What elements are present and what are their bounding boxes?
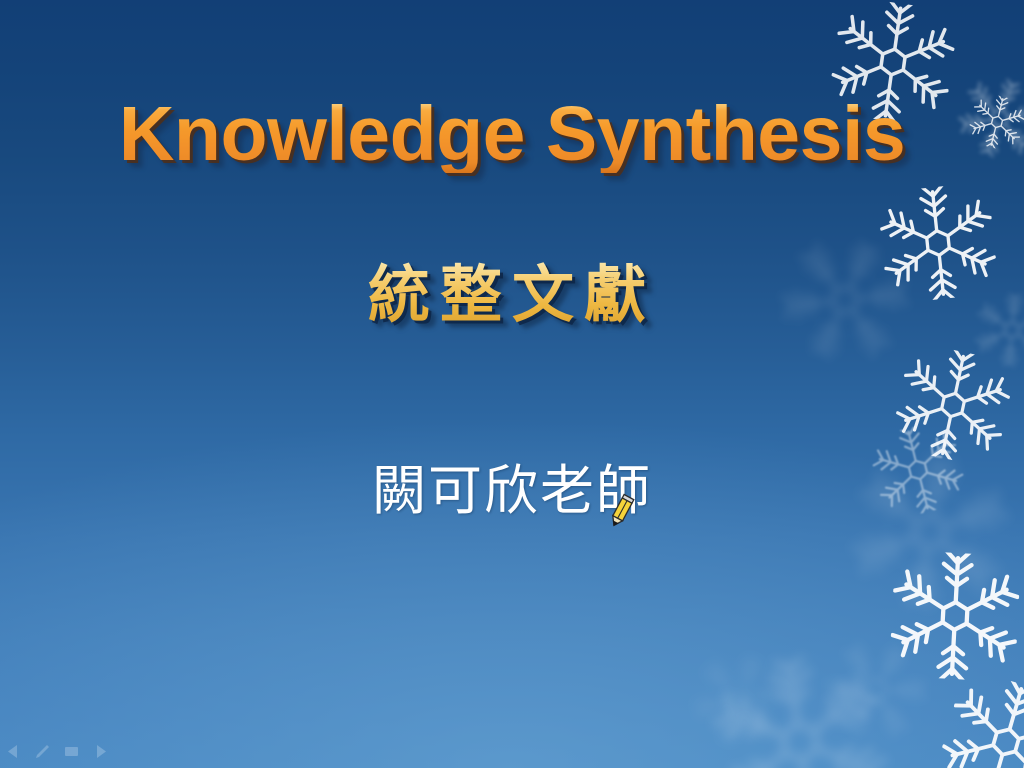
slide-subtitle: 統整文獻 — [368, 262, 656, 330]
presentation-toolbar[interactable] — [4, 738, 110, 764]
previous-slide-button[interactable] — [4, 742, 23, 761]
pen-tool-button[interactable] — [33, 742, 52, 761]
snowflake-icon — [810, 624, 941, 755]
presenter-name: 闕可欣老師 — [372, 462, 652, 521]
presentation-slide: Knowledge Synthesis 統整文獻 闕可欣老師 — [0, 0, 1024, 768]
snowflake-icon — [889, 550, 1021, 682]
snowflake-icon — [932, 668, 1024, 768]
snowflake-icon — [889, 341, 1017, 469]
next-slide-button[interactable] — [91, 742, 110, 761]
slide-options-button[interactable] — [62, 742, 81, 761]
title-container: Knowledge Synthesis — [0, 96, 1024, 173]
page-title: Knowledge Synthesis — [119, 96, 905, 173]
snowflake-icon — [705, 647, 895, 768]
presenter-container: 闕可欣老師 — [0, 462, 1024, 521]
snowflake-icon — [683, 643, 796, 756]
subtitle-container: 統整文獻 — [0, 262, 1024, 330]
